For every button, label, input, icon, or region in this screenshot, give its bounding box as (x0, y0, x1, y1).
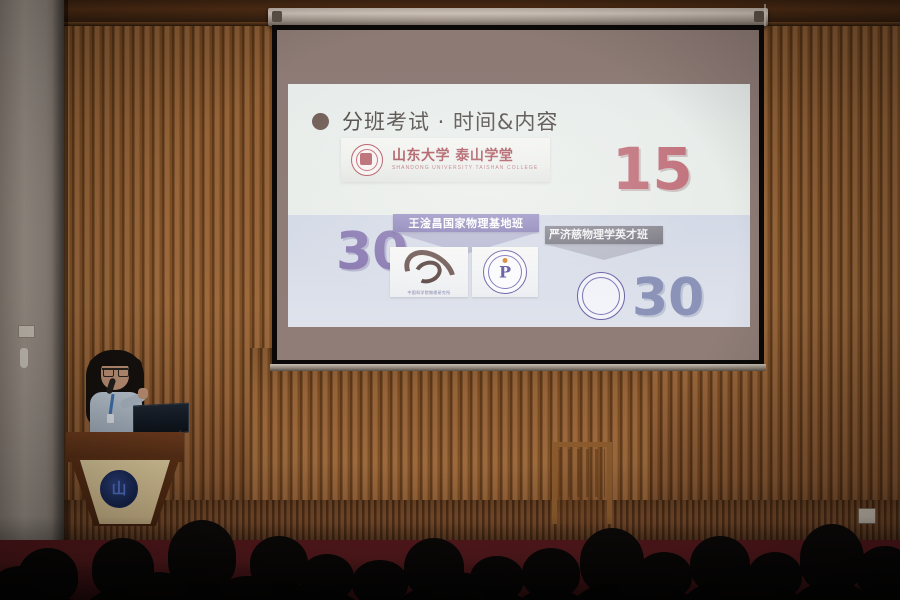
screen-pull-cord[interactable] (764, 4, 766, 26)
wanggangchang-banner-label: 王淦昌国家物理基地班 (393, 214, 539, 232)
wall-switch-plate-icon[interactable] (18, 325, 35, 338)
taishan-banner-cn: 山东大学 泰山学堂 (392, 149, 538, 164)
housing-endcap-right (754, 11, 764, 22)
taishan-banner-text: 山东大学 泰山学堂 SHANDONG UNIVERSITY TAISHAN CO… (392, 149, 538, 171)
physics-elite-circular-emblem-icon (577, 272, 625, 320)
quota-number-taishan: 15 (612, 140, 693, 198)
projected-slide: 分班考试 · 时间&内容 山东大学 泰山学堂 SHANDONG UNIVERSI… (288, 84, 750, 327)
shandong-university-seal-icon (351, 144, 383, 176)
slide-title: 分班考试 · 时间&内容 (342, 106, 558, 136)
taishan-banner-en: SHANDONG UNIVERSITY TAISHAN COLLEGE (392, 166, 538, 171)
audience-head (130, 572, 188, 600)
presenter-hand (138, 388, 148, 399)
yanjici-group: 严济慈物理学英才班 (545, 226, 663, 260)
slide-title-row: 分班考试 · 时间&内容 (312, 106, 558, 136)
yanjici-banner-fan (545, 244, 663, 260)
presenter-fringe (97, 352, 133, 366)
white-wall-fixture (20, 348, 28, 368)
wooden-chair (552, 442, 612, 524)
plaster-column-shadow (52, 0, 68, 560)
podium-emblem-icon: 山 (100, 470, 138, 508)
badge-icon (107, 414, 114, 423)
institute-logo-caption: 中国科学院物理研究所 (393, 290, 465, 295)
quota-number-yanjici: 30 (632, 272, 704, 324)
yanjici-banner-label: 严济慈物理学英才班 (545, 226, 663, 244)
chair-slats (559, 449, 605, 497)
emblem-letter-p-icon: P (499, 263, 511, 282)
glasses-lens-right-icon (118, 368, 129, 377)
screen-bottom-bar (270, 364, 766, 371)
emblem-flame-dot-icon (503, 258, 508, 263)
physics-p-circular-emblem-icon: P (472, 247, 538, 297)
podium-top (66, 432, 184, 462)
emblem-ring-icon: P (483, 250, 527, 294)
housing-endcap-left (272, 11, 282, 22)
taishan-college-banner: 山东大学 泰山学堂 SHANDONG UNIVERSITY TAISHAN CO… (341, 138, 550, 182)
audience-head (220, 576, 274, 600)
lecture-hall-photo: 分班考试 · 时间&内容 山东大学 泰山学堂 SHANDONG UNIVERSI… (0, 0, 900, 600)
institute-of-physics-swirl-emblem-icon: 中国科学院物理研究所 (390, 247, 468, 297)
glasses-lens-left-icon (103, 368, 114, 377)
wall-outlet-plate-icon[interactable] (858, 508, 876, 524)
seal-core-icon (360, 153, 372, 165)
wanggangchang-group: 王淦昌国家物理基地班 中国科学院物理研究所 P (393, 214, 539, 254)
projector-screen-housing[interactable] (268, 8, 768, 26)
wanggangchang-logo-row: 中国科学院物理研究所 P (390, 246, 542, 298)
podium-emblem-mark-icon: 山 (111, 477, 126, 498)
bullet-circle-icon (312, 113, 329, 130)
